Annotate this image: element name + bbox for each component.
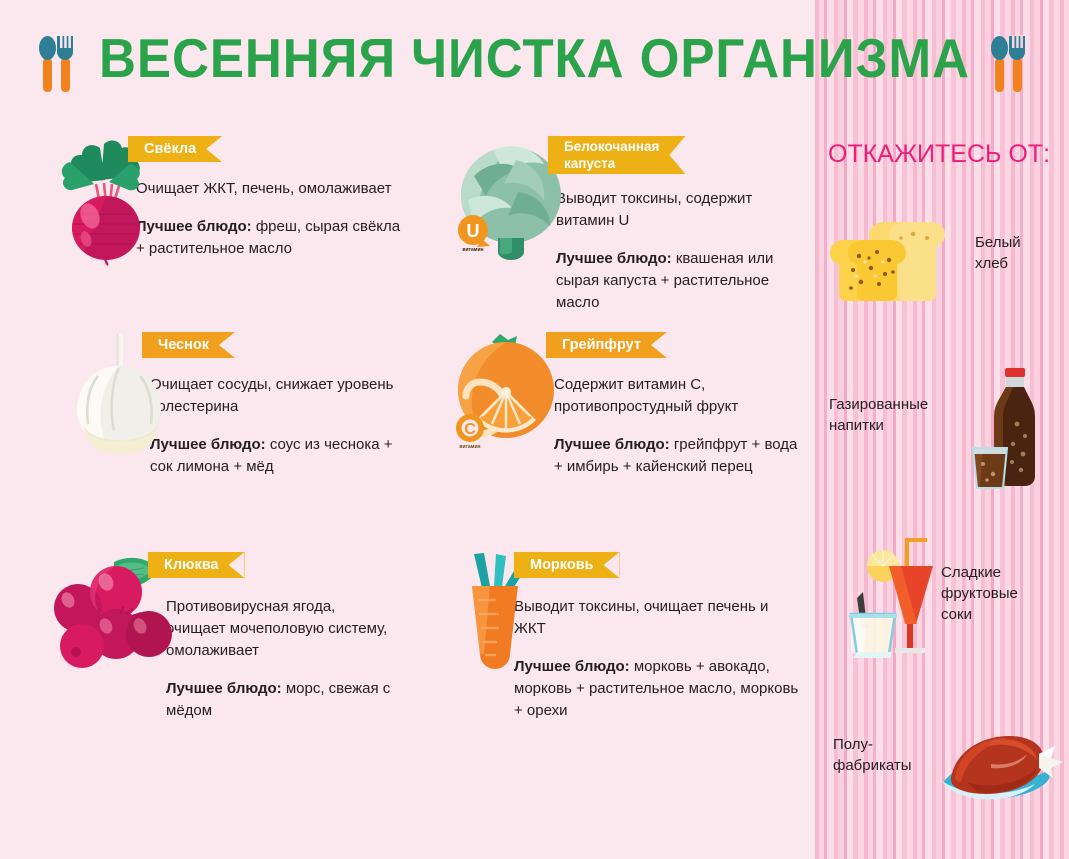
food-description-cranberry: Противовирусная ягода, очищает мочеполов…: [166, 596, 396, 722]
spoon-fork-icon: [985, 32, 1031, 94]
food-name-ribbon-grapefruit: Грейпфрут: [546, 332, 667, 358]
vitamin-badge-letter: U: [467, 221, 480, 241]
food-name-ribbon-cranberry: Клюква: [148, 552, 245, 578]
refuse-item-label: Газированные напитки: [829, 394, 928, 436]
food-name-ribbon-cabbage: Белокочанная капуста: [548, 136, 685, 174]
refuse-panel: ОТКАЖИТЕСЬ ОТ:: [815, 0, 1069, 859]
refuse-panel-title: ОТКАЖИТЕСЬ ОТ:: [828, 140, 1068, 169]
food-name-ribbon-beet: Свёкла: [128, 136, 222, 162]
food-name-ribbon-carrot: Морковь: [514, 552, 620, 578]
vitamin-badge-letter: C: [464, 421, 476, 438]
food-card-grapefruit: C витамин Грейпфрут Содержит витамин С, …: [448, 332, 808, 478]
white-bread-icon: [827, 212, 957, 302]
food-description-garlic: Очищает сосуды, снижает уровень холестер…: [150, 374, 398, 478]
soda-bottle-icon: [965, 366, 1055, 491]
food-description-cabbage: Выводит токсины, содержит витамин U Лучш…: [556, 188, 806, 314]
vitamin-badge-caption: витамин: [462, 247, 483, 253]
refuse-item-label: Сладкие фруктовые соки: [941, 562, 1018, 625]
best-dish-text: Лучшее блюдо: морс, свежая с мёдом: [166, 678, 396, 722]
best-dish-text: Лучшее блюдо: фреш, сырая свёкла + расти…: [136, 216, 404, 260]
refuse-item-juice: Сладкие фруктовые соки: [815, 532, 1069, 672]
benefit-text: Выводит токсины, очищает печень и ЖКТ: [514, 596, 804, 640]
infographic-root: ВЕСЕННЯЯ ЧИСТКА ОРГАНИЗМА: [0, 0, 1069, 859]
food-card-garlic: Чеснок Очищает сосуды, снижает уровень х…: [56, 332, 416, 478]
benefit-text: Очищает ЖКТ, печень, омолаживает: [136, 178, 404, 200]
refuse-item-white-bread: Белый хлеб: [815, 212, 1069, 302]
best-dish-text: Лучшее блюдо: грейпфрут + вода + имбирь …: [554, 434, 804, 478]
header: ВЕСЕННЯЯ ЧИСТКА ОРГАНИЗМА: [0, 0, 1069, 118]
best-dish-label: Лучшее блюдо:: [554, 436, 670, 453]
best-dish-label: Лучшее блюдо:: [556, 250, 672, 267]
benefit-text: Содержит витамин С, противопростудный фр…: [554, 374, 804, 418]
benefit-text: Выводит токсины, содержит витамин U: [556, 188, 806, 232]
best-dish-label: Лучшее блюдо:: [166, 680, 282, 697]
refuse-item-soda: Газированные напитки: [815, 378, 1069, 488]
refuse-item-label: Полу- фабрикаты: [833, 734, 912, 776]
food-name-ribbon-garlic: Чеснок: [142, 332, 235, 358]
grapefruit-icon: C витамин: [448, 332, 558, 454]
best-dish-text: Лучшее блюдо: морковь + авокадо, морковь…: [514, 656, 804, 722]
vitamin-badge-caption: витамин: [459, 444, 480, 450]
benefit-text: Очищает сосуды, снижает уровень холестер…: [150, 374, 398, 418]
best-dish-text: Лучшее блюдо: квашеная или сырая капуста…: [556, 248, 806, 314]
roast-chicken-icon: [933, 726, 1068, 816]
food-card-beet: Свёкла Очищает ЖКТ, печень, омолаживает …: [56, 136, 416, 260]
best-dish-text: Лучшее блюдо: соус из чеснока + сок лимо…: [150, 434, 398, 478]
page-title: ВЕСЕННЯЯ ЧИСТКА ОРГАНИЗМА: [37, 28, 1031, 88]
food-description-beet: Очищает ЖКТ, печень, омолаживает Лучшее …: [136, 178, 404, 260]
refuse-item-semifinished: Полу- фабрикаты: [815, 718, 1069, 828]
benefit-text: Противовирусная ягода, очищает мочеполов…: [166, 596, 396, 662]
food-card-carrot: Морковь Выводит токсины, очищает печень …: [448, 552, 808, 722]
food-card-cabbage: U витамин Белокочанная капуста Выводит т…: [452, 136, 812, 314]
food-description-grapefruit: Содержит витамин С, противопростудный фр…: [554, 374, 804, 478]
food-description-carrot: Выводит токсины, очищает печень и ЖКТ Лу…: [514, 596, 804, 722]
food-card-cranberry: Клюква Противовирусная ягода, очищает мо…: [52, 552, 412, 722]
refuse-item-label: Белый хлеб: [975, 232, 1021, 274]
